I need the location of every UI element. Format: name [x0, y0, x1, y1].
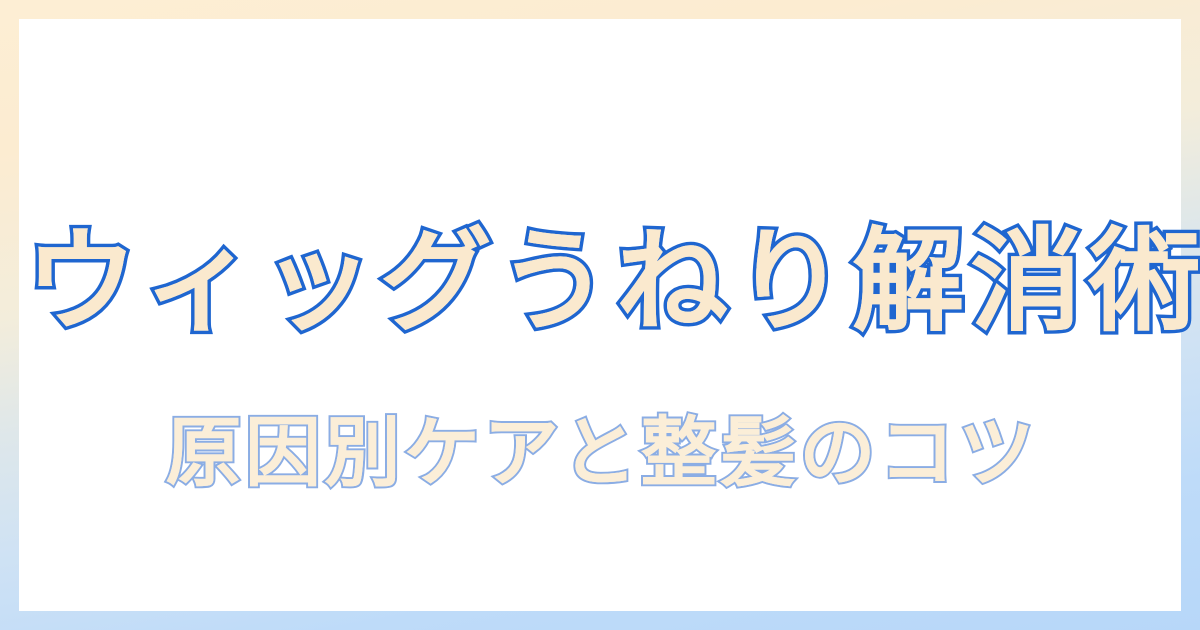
subheadline-fill-layer: 原因別ケアと整髪のコツ: [19, 401, 1181, 505]
headline-fill-layer: ウィッグうねり解消術: [19, 207, 1181, 357]
subheadline: 原因別ケアと整髪のコツ 原因別ケアと整髪のコツ: [19, 401, 1181, 505]
content-panel: ウィッグうねり解消術 ウィッグうねり解消術 原因別ケアと整髪のコツ 原因別ケアと…: [19, 19, 1181, 611]
headline: ウィッグうねり解消術 ウィッグうねり解消術: [19, 207, 1181, 357]
ogp-card-canvas: ウィッグうねり解消術 ウィッグうねり解消術 原因別ケアと整髪のコツ 原因別ケアと…: [0, 0, 1200, 630]
